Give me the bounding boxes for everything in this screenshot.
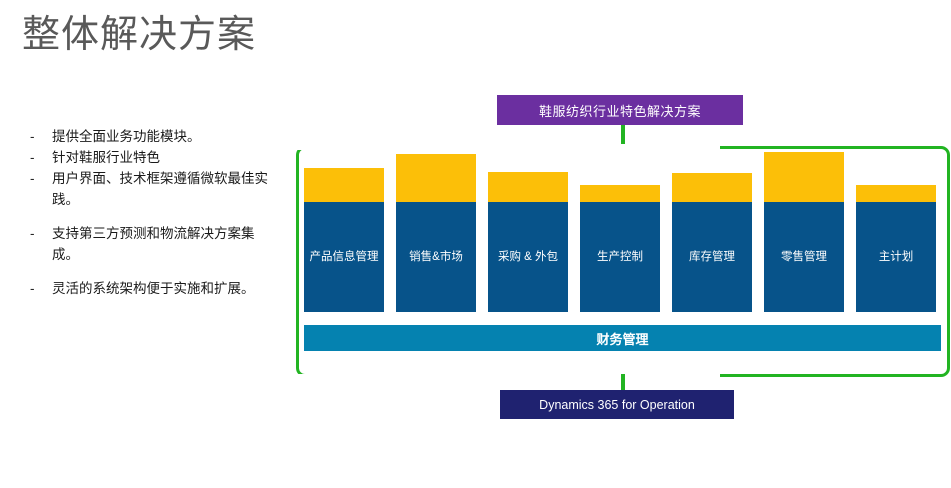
- bullet-marker: -: [30, 126, 52, 147]
- module-box[interactable]: 生产控制: [580, 202, 660, 312]
- module-column: 零售管理: [764, 0, 844, 320]
- module-capacity-bar: [304, 168, 384, 202]
- module-box[interactable]: 产品信息管理: [304, 202, 384, 312]
- frame-bottom-gap: [220, 374, 720, 380]
- module-capacity-bar: [488, 172, 568, 202]
- bullet-list: -提供全面业务功能模块。-针对鞋服行业特色-用户界面、技术框架遵循微软最佳实践。…: [30, 126, 280, 299]
- module-column: 销售&市场: [396, 0, 476, 320]
- finance-bar-label: 财务管理: [596, 329, 648, 348]
- bullet-marker: -: [30, 278, 52, 299]
- bullet-marker: -: [30, 147, 52, 168]
- module-box-label: 销售&市场: [409, 250, 463, 265]
- module-capacity-bar: [764, 152, 844, 202]
- module-capacity-bar: [396, 154, 476, 202]
- module-box[interactable]: 采购 & 外包: [488, 202, 568, 312]
- module-box-label: 生产控制: [597, 250, 643, 265]
- module-box-label: 主计划: [879, 250, 914, 265]
- bullet-text: 用户界面、技术框架遵循微软最佳实践。: [52, 168, 280, 210]
- module-column: 采购 & 外包: [488, 0, 568, 320]
- bullet-text: 支持第三方预测和物流解决方案集成。: [52, 223, 280, 265]
- bullet-item: -用户界面、技术框架遵循微软最佳实践。: [30, 168, 280, 210]
- module-capacity-bar: [856, 185, 936, 202]
- slide-canvas: 整体解决方案 -提供全面业务功能模块。-针对鞋服行业特色-用户界面、技术框架遵循…: [0, 0, 951, 488]
- page-title: 整体解决方案: [22, 12, 256, 58]
- module-box[interactable]: 主计划: [856, 202, 936, 312]
- bullet-item: -支持第三方预测和物流解决方案集成。: [30, 223, 280, 265]
- finance-bar[interactable]: 财务管理: [304, 325, 941, 351]
- bullet-text: 灵活的系统架构便于实施和扩展。: [52, 278, 280, 299]
- module-column: 生产控制: [580, 0, 660, 320]
- module-box[interactable]: 零售管理: [764, 202, 844, 312]
- bullet-item: -灵活的系统架构便于实施和扩展。: [30, 278, 280, 299]
- module-box[interactable]: 销售&市场: [396, 202, 476, 312]
- product-footer-label: Dynamics 365 for Operation: [539, 398, 695, 412]
- module-column: 主计划: [856, 0, 936, 320]
- module-box-label: 采购 & 外包: [498, 250, 558, 265]
- module-box[interactable]: 库存管理: [672, 202, 752, 312]
- module-capacity-bar: [672, 173, 752, 202]
- module-box-label: 库存管理: [689, 250, 735, 265]
- bullet-item: -针对鞋服行业特色: [30, 147, 280, 168]
- bullet-marker: -: [30, 223, 52, 265]
- module-box-label: 产品信息管理: [310, 250, 379, 265]
- module-column: 库存管理: [672, 0, 752, 320]
- module-capacity-bar: [580, 185, 660, 202]
- module-box-label: 零售管理: [781, 250, 827, 265]
- bullet-text: 针对鞋服行业特色: [52, 147, 280, 168]
- product-footer-box[interactable]: Dynamics 365 for Operation: [500, 390, 734, 419]
- module-column: 产品信息管理: [304, 0, 384, 320]
- bullet-marker: -: [30, 168, 52, 210]
